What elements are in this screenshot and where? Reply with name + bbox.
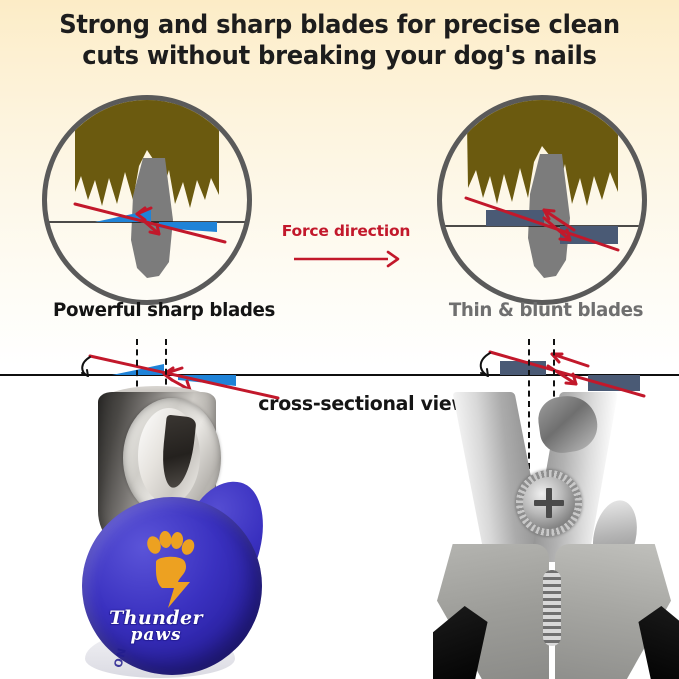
infographic-canvas: Strong and sharp blades for precise clea… [0, 0, 679, 679]
page-title: Strong and sharp blades for precise clea… [17, 10, 662, 72]
caption-left: Powerful sharp blades [49, 299, 279, 321]
headline-line-1: Strong and sharp blades for precise clea… [17, 10, 662, 41]
headline-line-2: cuts without breaking your dog's nails [17, 41, 662, 72]
screw-slot-horizontal [534, 500, 564, 506]
magnifier-left [42, 95, 252, 305]
cross-section-left-diagram [60, 336, 340, 396]
force-direction-label: Force direction [272, 222, 420, 240]
product-image-thunder-paws-clipper: ON OFF Thunder paws [35, 392, 285, 679]
magnifier-right [437, 95, 647, 305]
product-image-steel-clipper [455, 392, 679, 679]
left-blade-diagram [47, 100, 247, 300]
caption-right: Thin & blunt blades [435, 299, 658, 321]
cross-section-label: cross-sectional view [258, 392, 468, 415]
brand-logo-line-2: paws [81, 627, 231, 644]
paw-lightning-logo-icon [138, 532, 200, 610]
cross-section-right-diagram [448, 336, 678, 398]
right-blade-diagram [442, 100, 642, 300]
blade-block-right-a [486, 210, 544, 226]
steel-clipper-spring [543, 570, 561, 646]
cs-right-block-a [500, 361, 546, 375]
brand-logo-text: Thunder paws [81, 610, 231, 644]
force-direction-arrow-icon [292, 250, 400, 268]
